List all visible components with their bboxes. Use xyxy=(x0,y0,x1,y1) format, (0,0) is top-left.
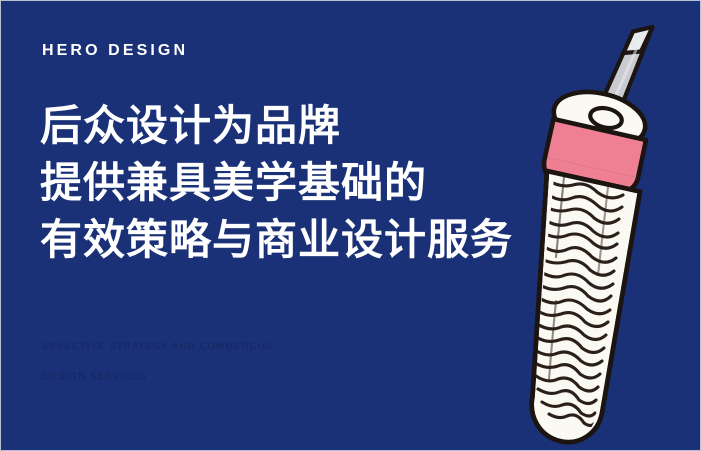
ribbed-handle xyxy=(532,171,640,442)
subcaption-line-1: EFFECTIVE STRATEGY AND COMMERCIAL xyxy=(43,332,275,362)
headline-line-1: 后众设计为品牌 xyxy=(40,97,513,154)
headline-line-2: 提供兼具美学基础的 xyxy=(40,154,513,211)
subcaption-line-2: DESIGN SERVICES xyxy=(43,362,275,392)
poster-canvas: HERO DESIGN 后众设计为品牌 提供兼具美学基础的 有效策略与商业设计服… xyxy=(0,0,701,451)
subcaption-block: EFFECTIVE STRATEGY AND COMMERCIAL DESIGN… xyxy=(43,332,275,392)
headline-line-3: 有效策略与商业设计服务 xyxy=(40,211,513,268)
headline-block: 后众设计为品牌 提供兼具美学基础的 有效策略与商业设计服务 xyxy=(40,97,513,268)
brand-wordmark: HERO DESIGN xyxy=(42,41,188,61)
